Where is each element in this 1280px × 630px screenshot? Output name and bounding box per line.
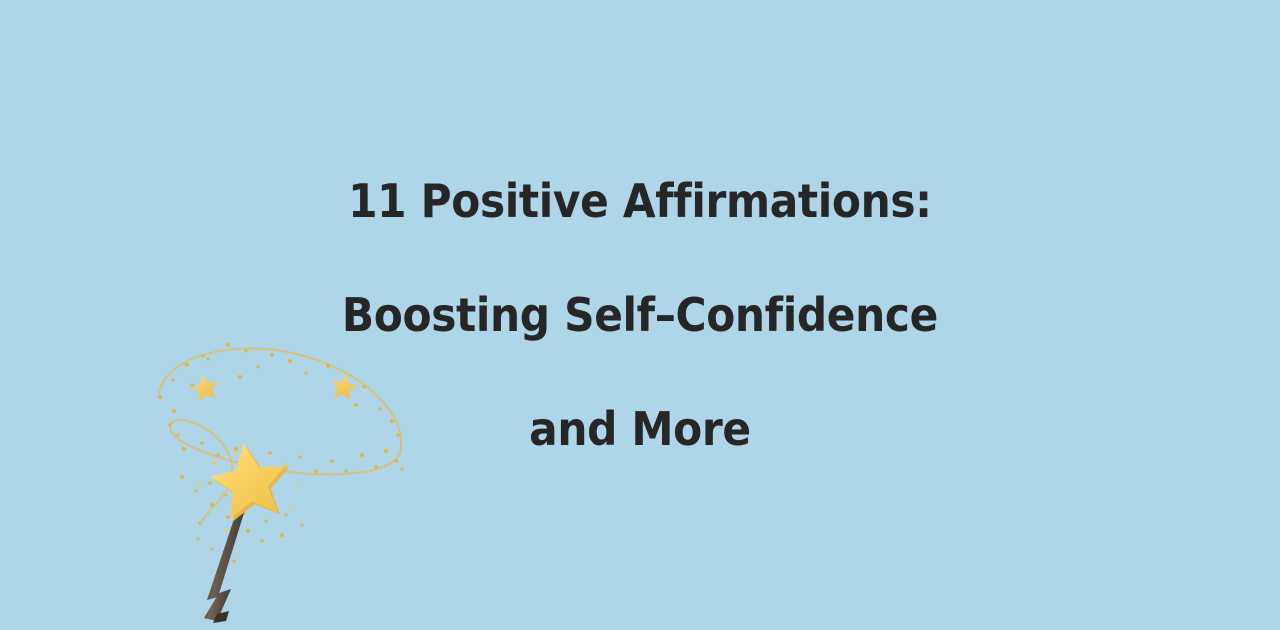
banner-canvas: 11 Positive Affirmations: Boosting Self–…: [0, 0, 1280, 630]
wand-handle-icon: [204, 500, 248, 623]
wand-star-tip-icon: [206, 438, 294, 524]
magic-wand-illustration: [140, 325, 440, 625]
sparkle-star-right-icon: [329, 372, 359, 401]
sparkle-trail-upper-icon: [159, 348, 401, 443]
title-line-1: 11 Positive Affirmations:: [342, 173, 938, 230]
sparkle-dots-icon: [158, 343, 404, 563]
sparkle-star-left-icon: [189, 372, 221, 403]
